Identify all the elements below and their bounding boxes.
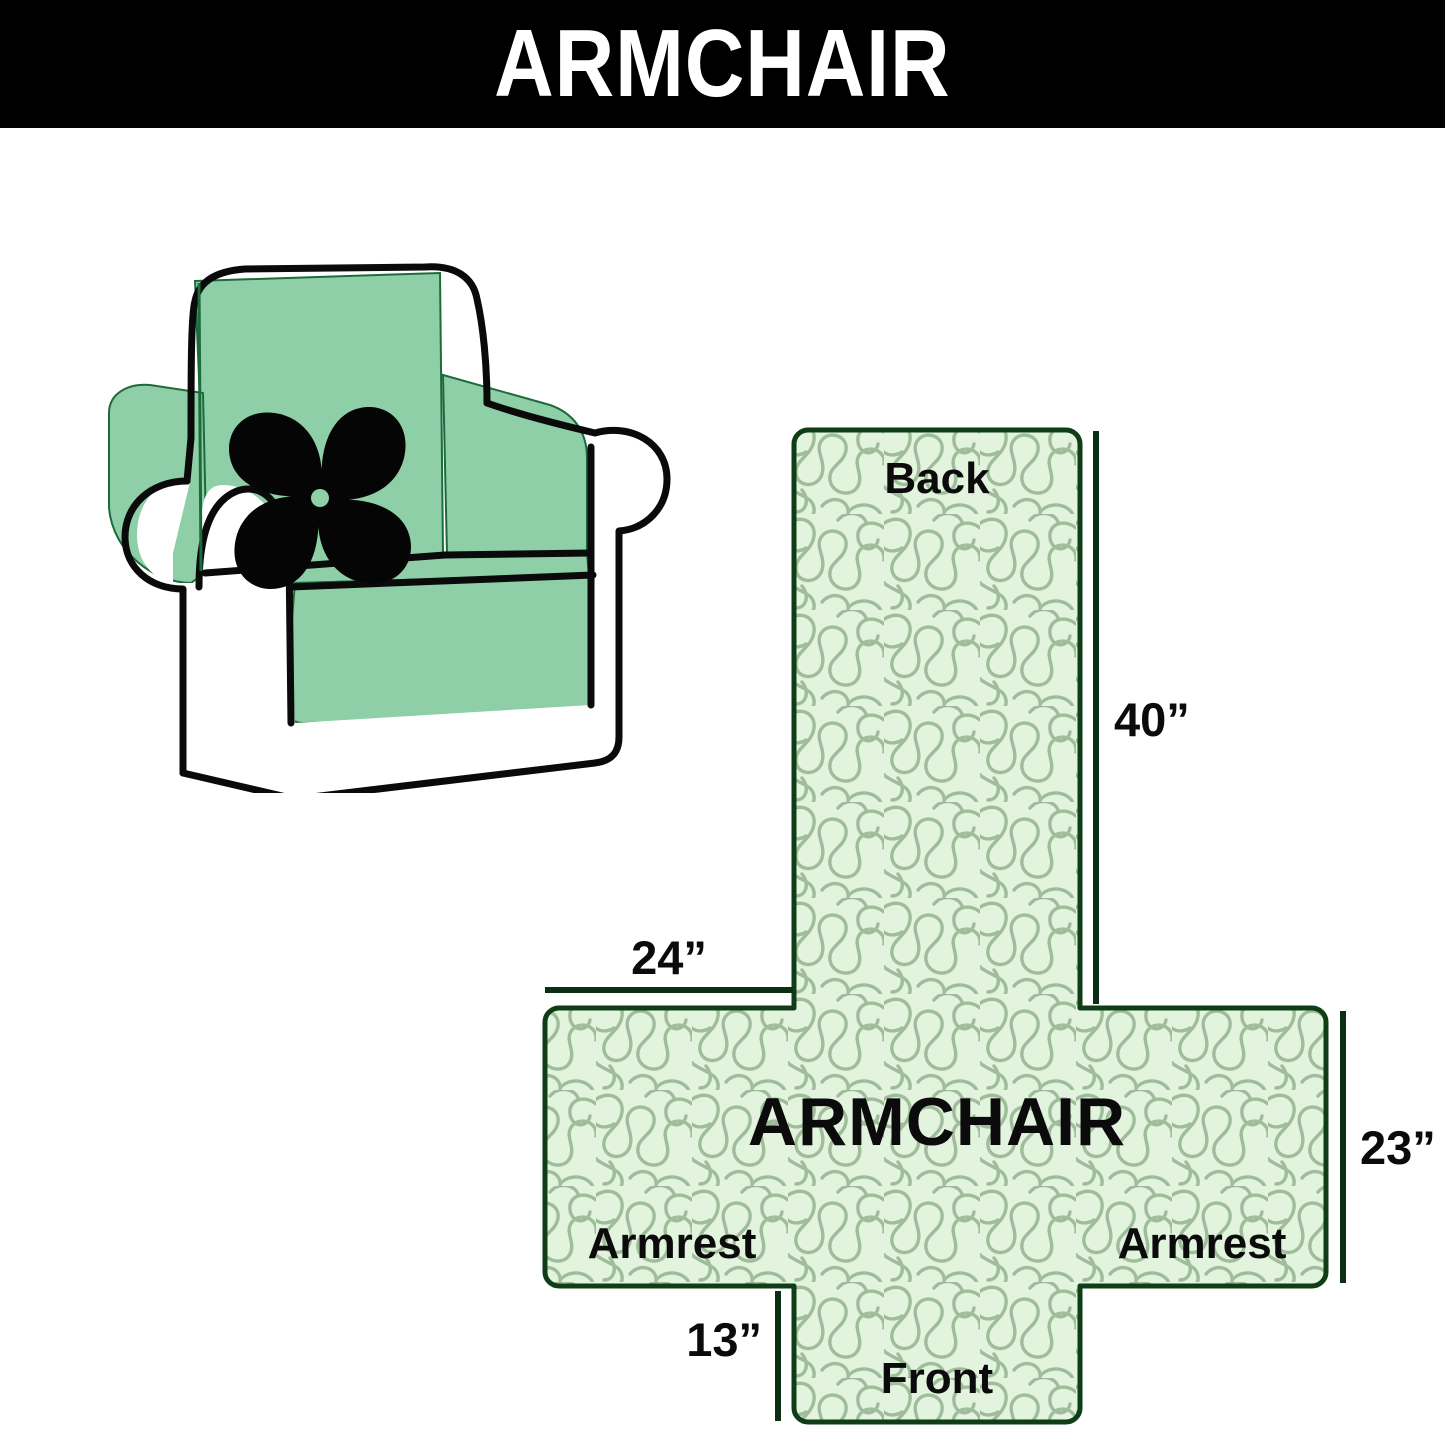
- panel-label-armrest-right: Armrest: [1118, 1219, 1287, 1268]
- slipcover-layout-diagram: Back ARMCHAIR Armrest Armrest Front 40” …: [500, 418, 1445, 1428]
- panel-label-armrest-left: Armrest: [588, 1219, 757, 1268]
- chair-back-left-edge: [187, 438, 191, 481]
- dimension-value-24-top: 24”: [631, 931, 707, 984]
- dimension-value-13: 13”: [686, 1313, 762, 1366]
- dimension-value-23: 23”: [1360, 1121, 1436, 1174]
- dimension-back-height: 40”: [1096, 434, 1190, 1001]
- dimension-armrest-height: 23”: [1343, 1014, 1436, 1280]
- panel-label-back: Back: [884, 454, 990, 503]
- page-title: ARMCHAIR: [494, 16, 950, 112]
- panel-label-center: ARMCHAIR: [748, 1084, 1126, 1160]
- header-banner: ARMCHAIR: [0, 0, 1445, 128]
- dimension-value-40: 40”: [1114, 693, 1190, 746]
- dimension-back-width: 24”: [548, 931, 790, 990]
- fan-hub: [311, 489, 329, 507]
- diagram-canvas: Back ARMCHAIR Armrest Armrest Front 40” …: [0, 128, 1445, 1445]
- panel-label-front: Front: [881, 1354, 994, 1403]
- slipcover-back-seam: [199, 283, 201, 571]
- slipcover-cross-panel: [545, 430, 1326, 1422]
- dimension-front-height: 13”: [686, 1294, 778, 1418]
